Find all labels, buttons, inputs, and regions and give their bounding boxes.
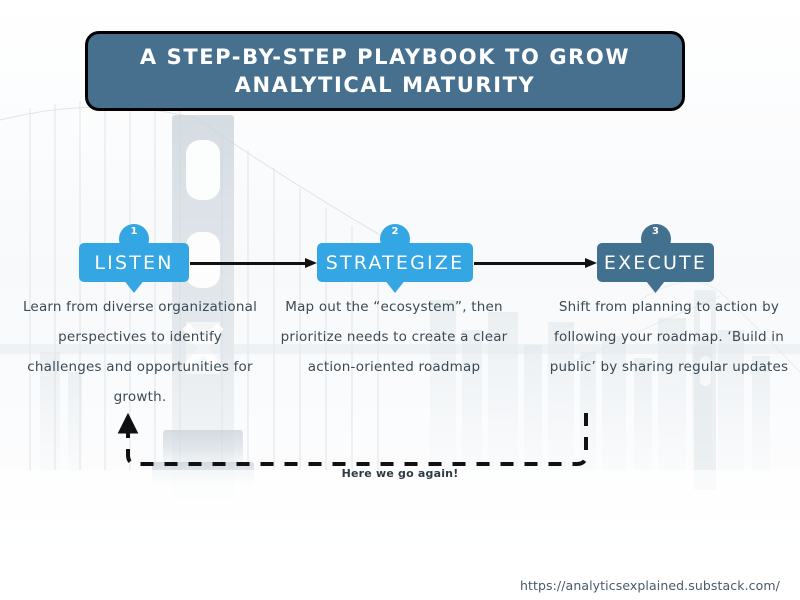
step-execute-description: Shift from planning to action by followi… [545, 292, 793, 382]
step-execute-box[interactable]: 3 EXECUTE [597, 243, 714, 282]
step-strategize-label: STRATEGIZE [312, 252, 479, 274]
step-execute-number: 3 [652, 226, 659, 238]
step-listen-number: 1 [131, 226, 138, 238]
arrow-listen-to-strategize [190, 258, 317, 268]
step-strategize[interactable]: 2 STRATEGIZE [317, 243, 473, 282]
step-listen-label: LISTEN [80, 252, 187, 274]
step-strategize-box[interactable]: 2 STRATEGIZE [317, 243, 473, 282]
feedback-loop-caption: Here we go again! [0, 467, 800, 480]
step-execute-number-badge: 3 [641, 224, 671, 254]
page-title: A step-by-step playbook to grow analytic… [88, 43, 682, 99]
infographic-canvas: A step-by-step playbook to grow analytic… [0, 0, 800, 600]
step-strategize-number: 2 [392, 226, 399, 238]
step-execute-label: EXECUTE [590, 252, 721, 274]
step-listen-notch [123, 279, 145, 293]
step-listen-box[interactable]: 1 LISTEN [79, 243, 189, 282]
step-listen[interactable]: 1 LISTEN [79, 243, 189, 282]
step-listen-number-badge: 1 [119, 224, 149, 254]
step-listen-description: Learn from diverse organizational perspe… [20, 292, 260, 412]
footer-url[interactable]: https://analyticsexplained.substack.com/ [520, 578, 780, 593]
step-execute[interactable]: 3 EXECUTE [597, 243, 714, 282]
step-execute-notch [645, 279, 667, 293]
arrow-strategize-to-execute [474, 258, 597, 268]
step-strategize-number-badge: 2 [380, 224, 410, 254]
step-strategize-notch [384, 279, 406, 293]
title-banner: A step-by-step playbook to grow analytic… [85, 31, 685, 111]
step-strategize-description: Map out the “ecosystem”, then prioritize… [278, 292, 510, 382]
